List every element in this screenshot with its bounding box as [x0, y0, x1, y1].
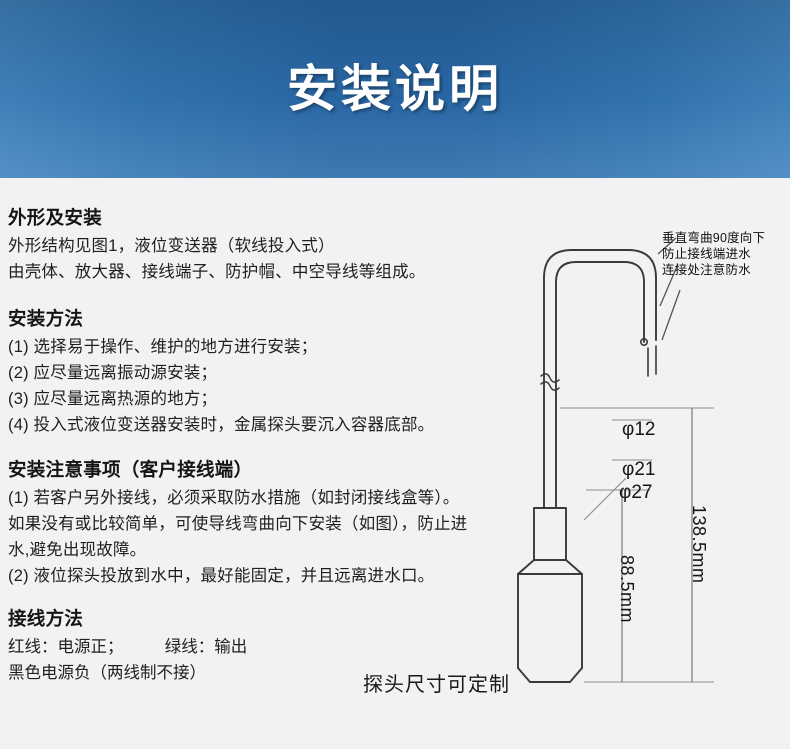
- section-spacer: [8, 438, 513, 458]
- probe-shoulder-taper: [518, 560, 582, 574]
- section-appearance-and-installation: 外形及安装 外形结构见图1，液位变送器（软线投入式） 由壳体、放大器、接线端子、…: [8, 206, 513, 285]
- section-spacer: [8, 589, 513, 607]
- dimension-label-total-length: 138.5mm: [688, 505, 709, 584]
- annotation-prevent-water-ingress: 防止接线端进水: [662, 246, 765, 262]
- annotation-bend-90-down: 垂直弯曲90度向下: [662, 230, 765, 246]
- section-body-line: (4) 投入式液位变送器安装时，金属探头要沉入容器底部。: [8, 413, 513, 439]
- page-header-banner: 安装说明: [0, 0, 790, 178]
- section-body-line: (2) 应尽量远离振动源安装；: [8, 361, 513, 387]
- section-heading: 安装方法: [8, 307, 513, 332]
- dimension-label-body-diameter: φ27: [619, 482, 652, 504]
- section-body-line: 水,避免出现故障。: [8, 538, 513, 564]
- dimension-label-neck-diameter: φ21: [622, 459, 655, 481]
- section-spacer: [8, 285, 513, 307]
- section-heading: 外形及安装: [8, 206, 513, 231]
- probe-neck: [534, 508, 566, 560]
- page-title: 安装说明: [0, 0, 790, 178]
- section-installation-precautions: 安装注意事项（客户接线端） (1) 若客户另外接线，必须采取防水措施（如封闭接线…: [8, 458, 513, 589]
- section-body-line: (1) 若客户另外接线，必须采取防水措施（如封闭接线盒等）。: [8, 486, 513, 512]
- dimension-label-body-length: 88.5mm: [616, 555, 637, 623]
- section-body-line: 如果没有或比较简单，可使导线弯曲向下安装（如图），防止进: [8, 512, 513, 538]
- section-body-line: 由壳体、放大器、接线端子、防护帽、中空导线等组成。: [8, 260, 513, 286]
- wiring-line-positive: 红线：电源正； 绿线：输出: [8, 635, 513, 661]
- cable-outer-edge: [544, 250, 656, 490]
- annotation-waterproof-joint: 连接处注意防水: [662, 262, 765, 278]
- section-installation-method: 安装方法 (1) 选择易于操作、维护的地方进行安装； (2) 应尽量远离振动源安…: [8, 307, 513, 438]
- section-heading: 安装注意事项（客户接线端）: [8, 458, 513, 483]
- section-heading: 接线方法: [8, 607, 513, 632]
- cable-inner-edge: [556, 262, 644, 490]
- section-body-line: 外形结构见图1，液位变送器（软线投入式）: [8, 234, 513, 260]
- section-body-line: (2) 液位探头投放到水中，最好能固定，并且远离进水口。: [8, 564, 513, 590]
- leader-line-annotation-waterproof: [662, 290, 680, 340]
- section-body-line: (3) 应尽量远离热源的地方；: [8, 387, 513, 413]
- probe-customizable-caption: 探头尺寸可定制: [363, 668, 510, 697]
- instructions-text-column: 外形及安装 外形结构见图1，液位变送器（软线投入式） 由壳体、放大器、接线端子、…: [8, 206, 513, 687]
- dimension-label-cable-diameter: φ12: [622, 419, 655, 441]
- section-body-line: (1) 选择易于操作、维护的地方进行安装；: [8, 335, 513, 361]
- probe-bottom-chamfer: [518, 668, 582, 682]
- diagram-annotation-block: 垂直弯曲90度向下 防止接线端进水 连接处注意防水: [662, 230, 765, 278]
